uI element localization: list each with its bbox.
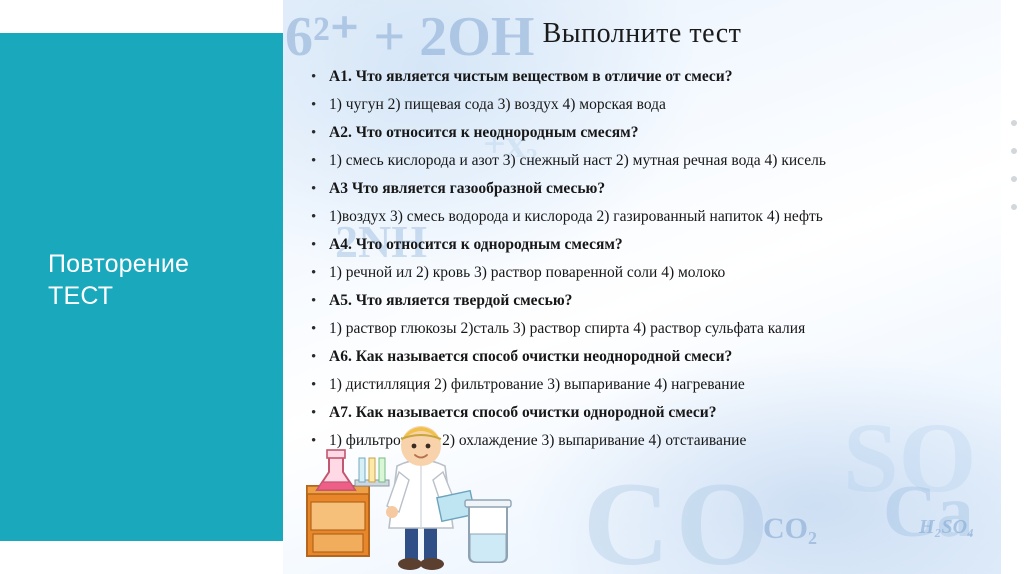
question-text: А3 Что является газообразной смесью? <box>329 178 605 200</box>
nav-dot[interactable] <box>1011 148 1017 154</box>
nav-dot[interactable] <box>1011 204 1017 210</box>
list-item: • 1) дистилляция 2) фильтрование 3) выпа… <box>311 374 991 396</box>
question-text: А4. Что относится к однородным смесям? <box>329 234 623 256</box>
list-item: • А6. Как называется способ очистки неод… <box>311 346 991 368</box>
watermark-formula-6: H₂SO₄ <box>919 516 974 539</box>
question-text: А1. Что является чистым веществом в отли… <box>329 66 732 88</box>
watermark-formula-3: CO <box>583 455 775 574</box>
bullet-icon: • <box>311 346 329 368</box>
chemist-illustration <box>293 394 543 574</box>
bullet-icon: • <box>311 374 329 396</box>
nav-dot[interactable] <box>1011 120 1017 126</box>
list-item: • А1. Что является чистым веществом в от… <box>311 66 991 88</box>
answers-text: 1) дистилляция 2) фильтрование 3) выпари… <box>329 374 745 396</box>
bullet-icon: • <box>311 206 329 228</box>
question-text: А2. Что относится к неоднородным смесям? <box>329 122 638 144</box>
slide-title-line-2: ТЕСТ <box>48 280 278 312</box>
slide-content-image: 6²⁺ + 2OH 2NH CO CO₂ Ca H₂SO₄ SO +x₂ Вып… <box>283 0 1001 574</box>
watermark-formula-5: Ca <box>883 470 973 555</box>
list-item: • А5. Что является твердой смесью? <box>311 290 991 312</box>
left-title-panel: Повторение ТЕСТ <box>0 33 283 541</box>
bullet-icon: • <box>311 234 329 256</box>
bullet-icon: • <box>311 122 329 144</box>
list-item: • 1) смесь кислорода и азот 3) снежный н… <box>311 150 991 172</box>
right-margin <box>1001 0 1024 574</box>
slide: Повторение ТЕСТ 6²⁺ + 2OH 2NH CO CO₂ Ca … <box>0 0 1024 574</box>
list-item: • А2. Что относится к неоднородным смеся… <box>311 122 991 144</box>
answers-text: 1) раствор глюкозы 2)сталь 3) раствор сп… <box>329 318 805 340</box>
bullet-icon: • <box>311 66 329 88</box>
list-item: • А3 Что является газообразной смесью? <box>311 178 991 200</box>
watermark-formula-4: CO₂ <box>763 512 817 546</box>
slide-title: Повторение ТЕСТ <box>48 248 278 312</box>
bullet-icon: • <box>311 262 329 284</box>
nav-dot[interactable] <box>1011 176 1017 182</box>
list-item: • 1) речной ил 2) кровь 3) раствор повар… <box>311 262 991 284</box>
question-text: А5. Что является твердой смесью? <box>329 290 572 312</box>
list-item: • 1)воздух 3) смесь водорода и кислорода… <box>311 206 991 228</box>
list-item: • А4. Что относится к однородным смесям? <box>311 234 991 256</box>
slide-nav-dots[interactable] <box>1011 120 1018 240</box>
bullet-icon: • <box>311 150 329 172</box>
answers-text: 1) смесь кислорода и азот 3) снежный нас… <box>329 150 826 172</box>
question-text: А6. Как называется способ очистки неодно… <box>329 346 732 368</box>
answers-text: 1)воздух 3) смесь водорода и кислорода 2… <box>329 206 823 228</box>
slide-title-line-1: Повторение <box>48 248 278 280</box>
answers-text: 1) чугун 2) пищевая сода 3) воздух 4) мо… <box>329 94 666 116</box>
bullet-icon: • <box>311 94 329 116</box>
list-item: • 1) чугун 2) пищевая сода 3) воздух 4) … <box>311 94 991 116</box>
content-title: Выполните тест <box>283 18 1001 50</box>
bullet-icon: • <box>311 318 329 340</box>
answers-text: 1) речной ил 2) кровь 3) раствор поварен… <box>329 262 725 284</box>
bullet-icon: • <box>311 178 329 200</box>
list-item: • 1) раствор глюкозы 2)сталь 3) раствор … <box>311 318 991 340</box>
bullet-icon: • <box>311 290 329 312</box>
